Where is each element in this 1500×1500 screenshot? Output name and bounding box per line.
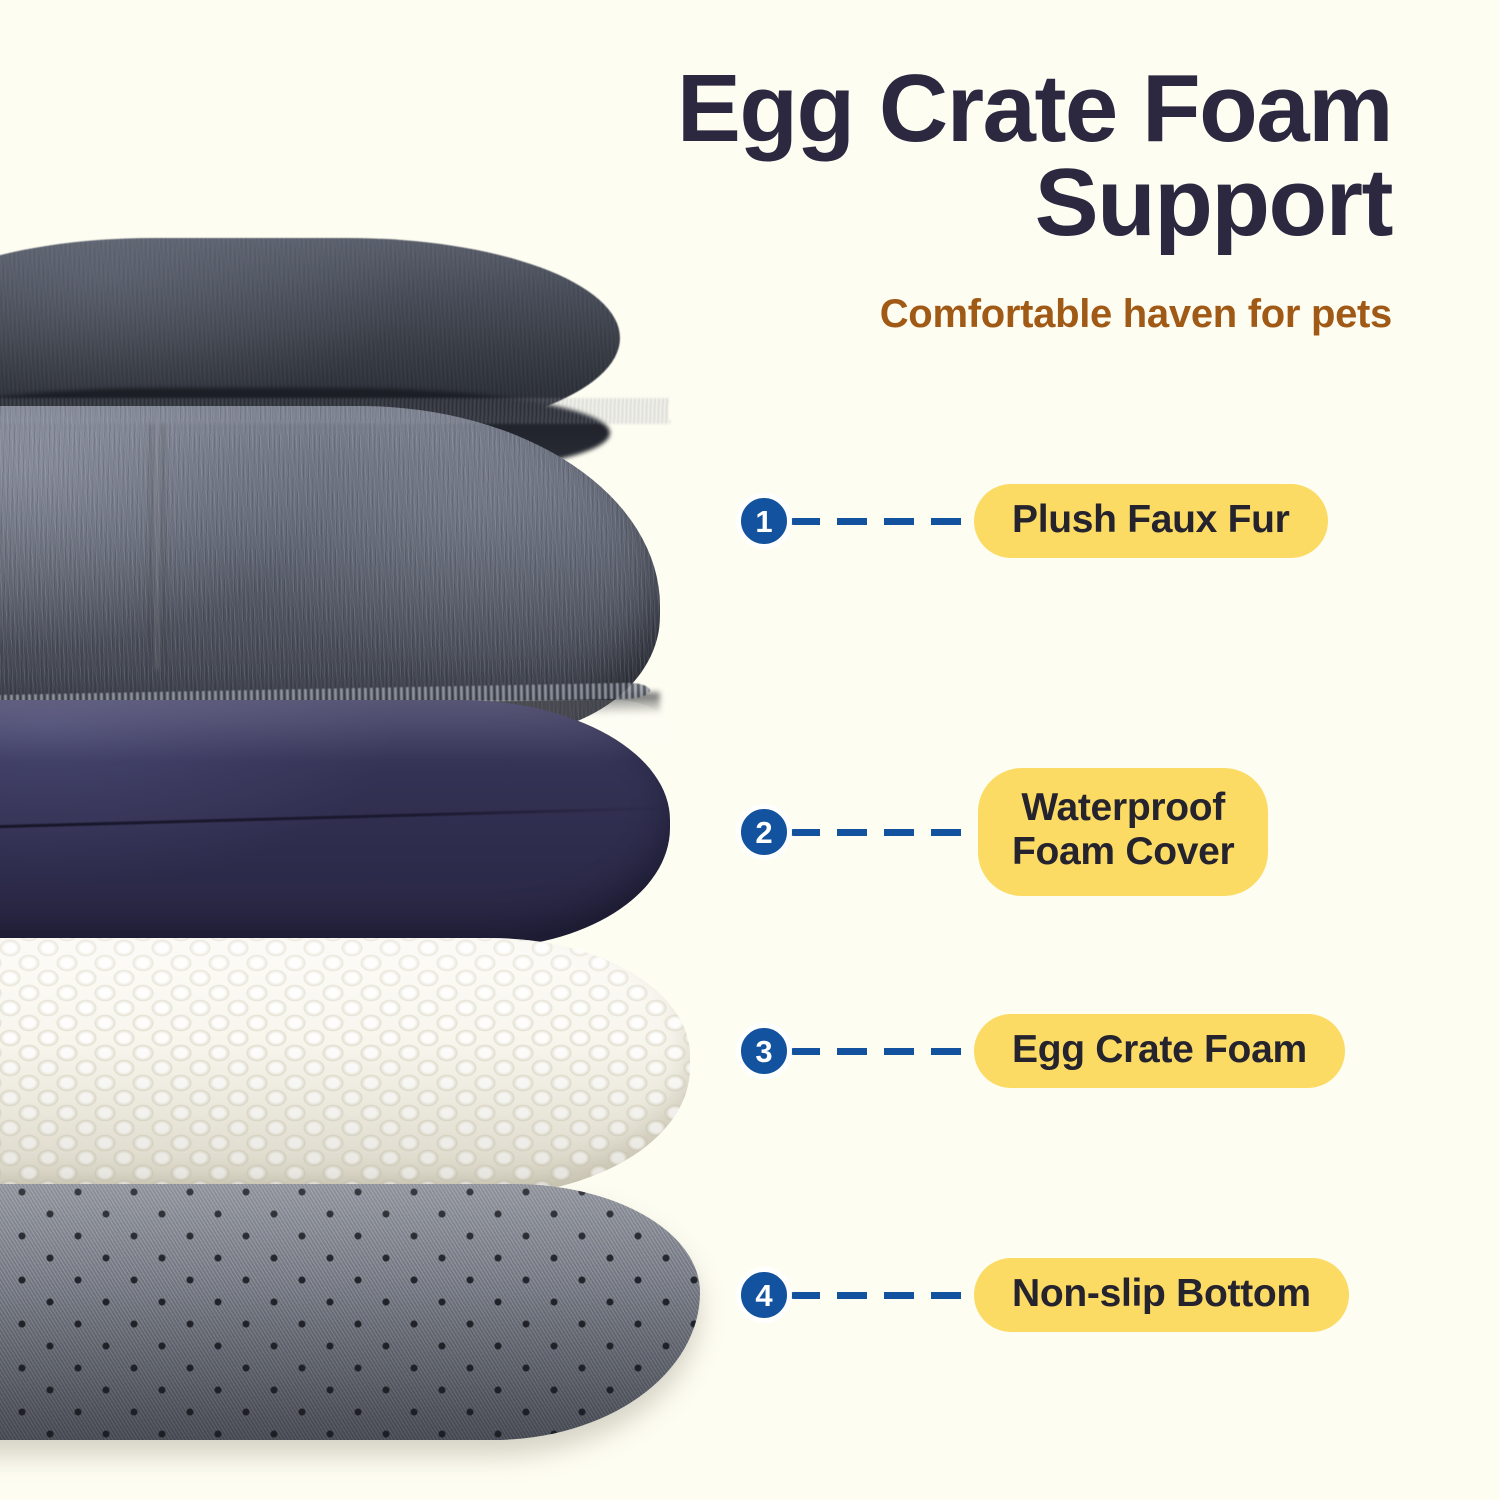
leader-line-3 <box>790 1048 968 1055</box>
badge-number-2: 2 <box>736 804 792 860</box>
label-pill-1-text: Plush Faux Fur <box>1012 500 1290 539</box>
callout-plush-faux-fur: 1 Plush Faux Fur <box>736 484 1328 558</box>
bottom-shading <box>0 1184 700 1440</box>
leader-line-1 <box>790 518 968 525</box>
label-pill-4: Non-slip Bottom <box>974 1258 1349 1332</box>
page-subtitle: Comfortable haven for pets <box>552 292 1392 337</box>
fur-seam <box>150 420 164 670</box>
foam-shading <box>0 938 690 1196</box>
product-layer-stack <box>0 238 780 1453</box>
callout-non-slip-bottom: 4 Non-slip Bottom <box>736 1258 1349 1332</box>
callout-waterproof-foam-cover: 2 Waterproof Foam Cover <box>736 772 1268 892</box>
waterproof-foam-cover-layer <box>0 700 670 948</box>
infographic-canvas: Egg Crate Foam Support Comfortable haven… <box>0 0 1500 1500</box>
egg-crate-foam-layer <box>0 938 690 1196</box>
label-pill-2-text-line2: Foam Cover <box>1012 830 1234 874</box>
label-pill-3: Egg Crate Foam <box>974 1014 1345 1088</box>
badge-number-3: 3 <box>736 1023 792 1079</box>
non-slip-bottom-layer <box>0 1184 700 1440</box>
title-line-1: Egg Crate Foam <box>552 62 1392 156</box>
label-pill-2-text-line1: Waterproof <box>1021 786 1225 830</box>
label-pill-1: Plush Faux Fur <box>974 484 1328 558</box>
cover-seam <box>0 806 670 832</box>
label-pill-3-text: Egg Crate Foam <box>1012 1030 1307 1069</box>
leader-line-2 <box>790 829 972 836</box>
page-title: Egg Crate Foam Support <box>552 62 1392 250</box>
badge-number-1: 1 <box>736 493 792 549</box>
leader-line-4 <box>790 1292 968 1299</box>
badge-number-4: 4 <box>736 1267 792 1323</box>
callout-egg-crate-foam: 3 Egg Crate Foam <box>736 1014 1345 1088</box>
label-pill-4-text: Non-slip Bottom <box>1012 1274 1311 1313</box>
label-pill-2: Waterproof Foam Cover <box>978 768 1268 895</box>
title-line-2: Support <box>552 156 1392 250</box>
